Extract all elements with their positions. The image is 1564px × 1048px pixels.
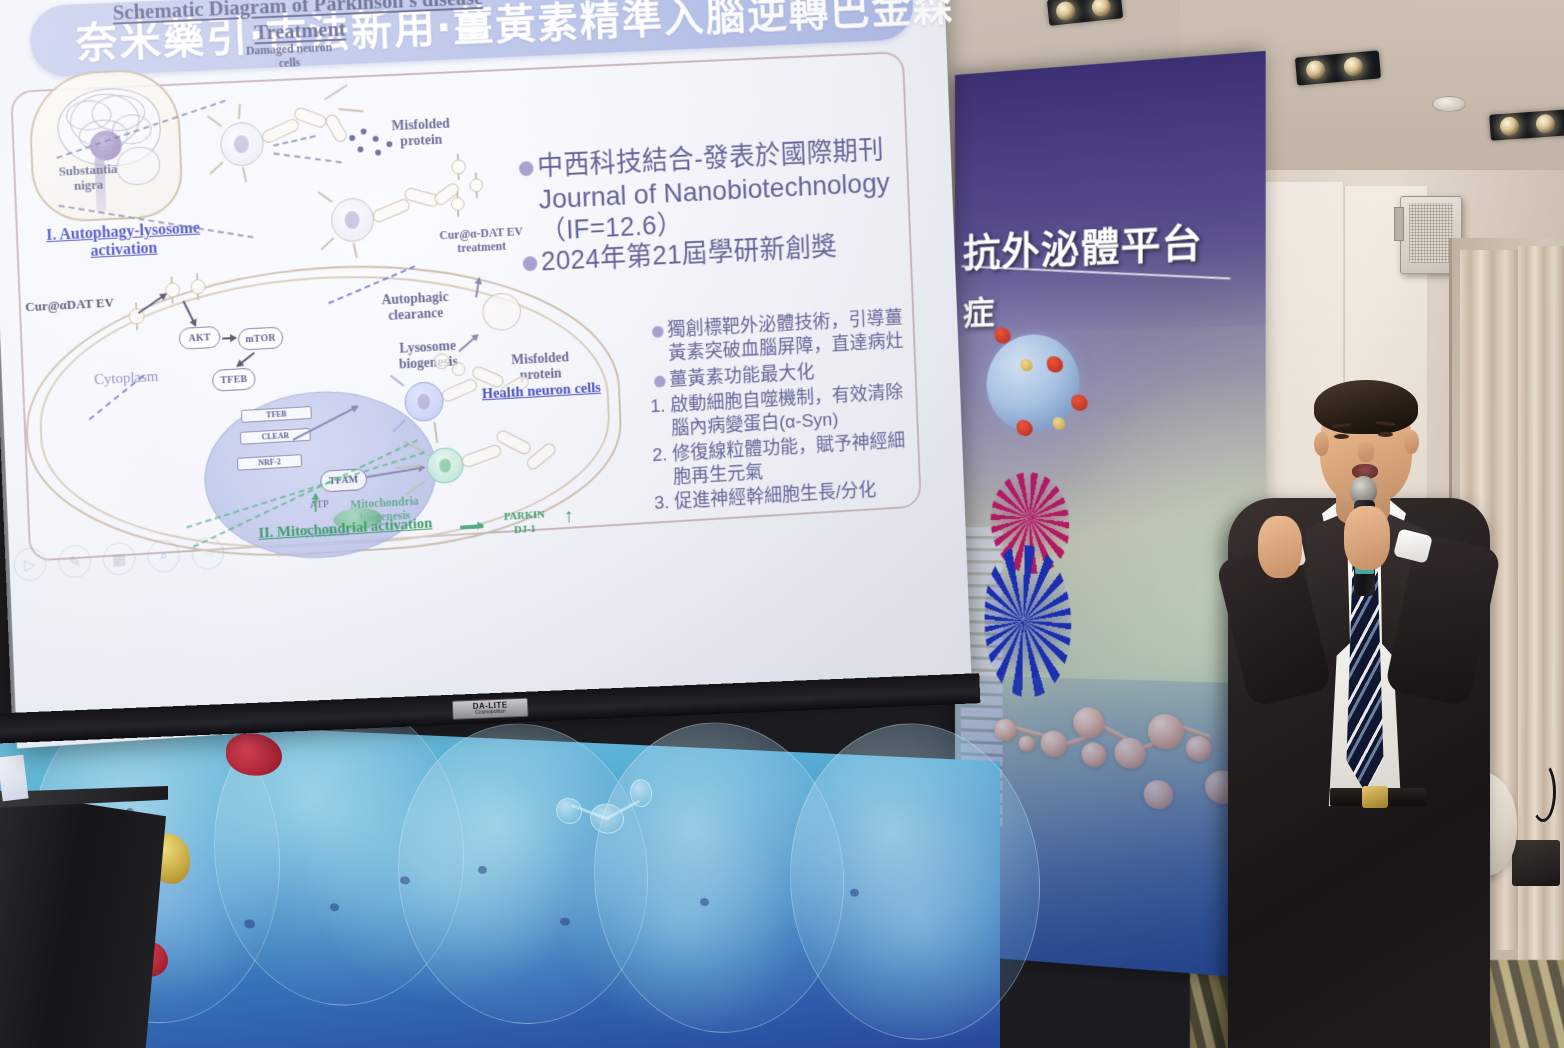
speaker-mount	[1394, 207, 1404, 241]
conference-room-scene: 抗外泌體平台 症	[0, 0, 1564, 1048]
exosome-vesicle-graphic	[987, 333, 1080, 432]
spotlight-lamp	[1091, 0, 1112, 18]
neuron-nucleus	[439, 458, 451, 473]
surface-protein	[1053, 417, 1065, 429]
neuron-nucleus	[417, 393, 430, 410]
screen-brand-badge: DA-LITE Cosmopolitan	[452, 698, 529, 720]
spotlight-lamp	[1055, 1, 1076, 22]
podium	[0, 790, 166, 1048]
molecule-atom	[556, 797, 582, 824]
eye-left	[1334, 434, 1349, 439]
pen-icon[interactable]: ✎	[58, 544, 92, 579]
ceiling-light-fixture	[1489, 109, 1564, 141]
head-outline-graphic	[27, 68, 183, 224]
upregulation-arrow-icon: ↑	[563, 505, 573, 528]
molecule-graphic	[556, 775, 676, 870]
surface-protein	[1071, 394, 1087, 411]
bullet-marker	[519, 161, 534, 176]
akt-to-mtor-arrow	[222, 337, 236, 340]
surface-protein	[995, 327, 1011, 344]
screen-brand-model: Cosmopolitan	[475, 710, 506, 716]
label-substantia-nigra: Substantia nigra	[33, 161, 143, 196]
molecule-atom	[590, 803, 624, 835]
projection-screen: 奈米藥引‧古法新用‧薑黃素精準入腦逆轉巴金森 Schematic Diagram…	[0, 0, 972, 749]
bullet-marker	[654, 375, 666, 387]
neuron-nucleus	[345, 211, 360, 230]
speaker-grill	[1409, 203, 1453, 263]
eye-right	[1378, 432, 1393, 437]
label-dj1: DJ-1	[491, 522, 559, 538]
surface-protein	[1047, 356, 1063, 373]
hand-right-holding-microphone	[1344, 506, 1390, 570]
presenter-person	[1210, 380, 1510, 1048]
belt-buckle	[1362, 786, 1388, 808]
slide-bullets-bottom: 獨創標靶外泌體技術，引導薑黃素突破血腦屏障，直達病灶 薑黃素功能最大化 啟動細胞…	[652, 307, 916, 516]
slide-bullets-top: 中西科技結合-發表於國際期刊 Journal of Nanobiotechnol…	[518, 135, 906, 281]
spotlight-lamp	[1343, 56, 1364, 77]
equipment-box	[1512, 840, 1560, 886]
spotlight-lamp	[1535, 114, 1555, 134]
magnifier-icon[interactable]: ⌕	[147, 539, 181, 574]
numbered-list: 啟動細胞自噬機制，有效清除腦內病變蛋白(α-Syn) 修復線粒體功能，賦予神經細…	[670, 381, 916, 515]
cell-speck	[850, 889, 859, 897]
surface-protein	[1021, 359, 1033, 371]
nose	[1358, 442, 1374, 462]
ear-left	[1314, 432, 1329, 456]
ear-right	[1404, 430, 1419, 454]
cable-coil	[1530, 762, 1556, 822]
cell-speck	[244, 919, 255, 928]
label-misfolded-protein-top: Misfolded protein	[376, 116, 466, 152]
molecule-atom	[630, 779, 652, 808]
cell-speck	[330, 903, 339, 911]
cell-speck	[400, 876, 410, 884]
cell-speck	[700, 898, 709, 906]
slides-grid-icon[interactable]: ▦	[102, 541, 136, 576]
atp-arrow	[315, 494, 317, 512]
smoke-detector-icon	[1432, 96, 1466, 112]
spotlight-lamp	[1305, 60, 1326, 81]
slide-content: 奈米藥引‧古法新用‧薑黃素精準入腦逆轉巴金森 Schematic Diagram…	[0, 0, 972, 749]
node-tfeb: TFEB	[212, 368, 256, 392]
hand-left-holding-clicker	[1258, 516, 1302, 578]
cell-speck	[478, 866, 487, 874]
neuron-nucleus	[234, 135, 249, 154]
bullet-marker	[523, 256, 538, 271]
label-autophagic-clearance: Autophagic clearance	[356, 289, 475, 327]
surface-protein	[1017, 420, 1033, 436]
diagram-title-line2: Treatment	[254, 16, 346, 44]
cell-speck	[560, 917, 570, 925]
node-akt: AKT	[179, 326, 221, 350]
bullet-marker	[652, 326, 664, 338]
hair	[1314, 380, 1418, 434]
node-mtor: mTOR	[238, 326, 284, 350]
more-options-icon[interactable]: ···	[191, 536, 225, 571]
play-icon[interactable]: ▷	[13, 547, 47, 582]
mito-activation-arrow	[460, 524, 483, 529]
spotlight-lamp	[1499, 116, 1519, 136]
label-damaged-neuron-cells: Damaged neuron cells	[220, 40, 358, 73]
